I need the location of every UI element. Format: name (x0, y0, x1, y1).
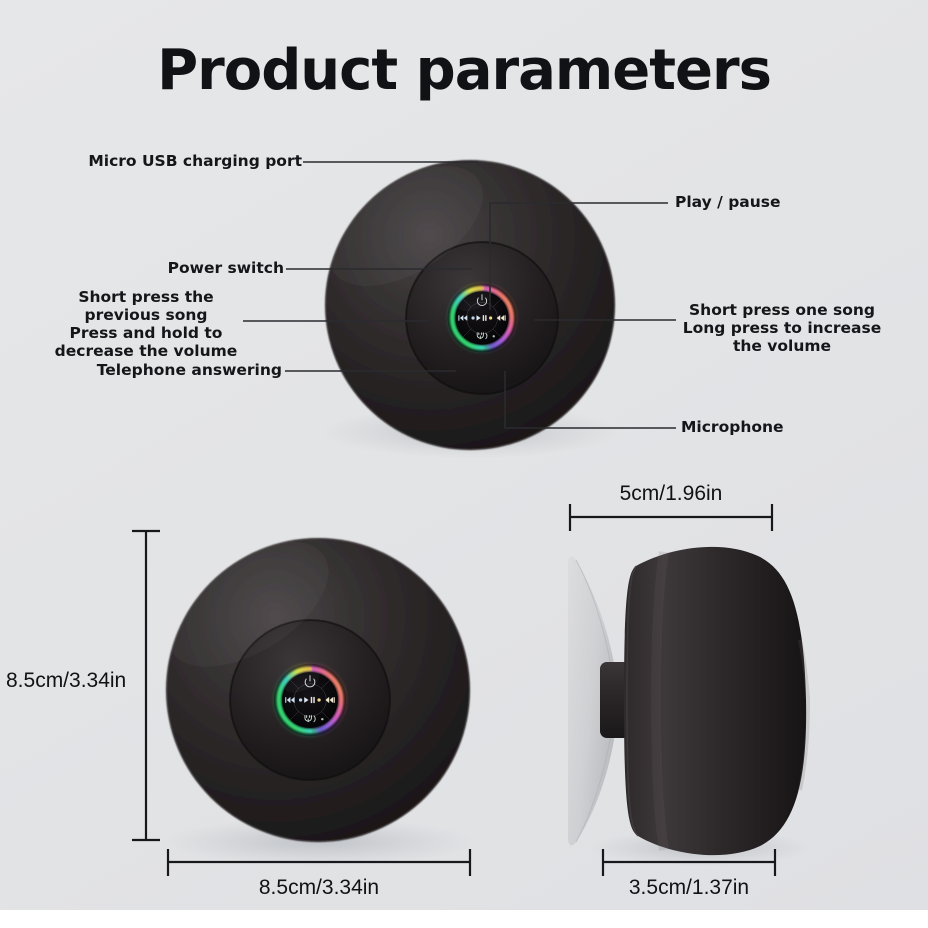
dimension-bottom-right-width: 3.5cm/1.37in (603, 876, 775, 900)
product-illustration (0, 0, 928, 928)
speaker-front-view-main (309, 141, 620, 458)
dimension-left-height: 8.5cm/3.34in (6, 669, 140, 693)
callout-previous-song-volume-down: Short press the previous song Press and … (48, 289, 244, 361)
callout-power-switch: Power switch (40, 260, 284, 278)
callout-microphone: Microphone (681, 419, 901, 437)
page-title: Product parameters (0, 38, 928, 103)
speaker-side-view-dimensions (568, 547, 810, 866)
dimension-bottom-left-width: 8.5cm/3.34in (168, 876, 470, 900)
callout-play-pause: Play / pause (675, 194, 895, 212)
callout-next-song-volume-up: Short press one song Long press to incre… (678, 302, 886, 356)
callout-telephone-answering: Telephone answering (40, 362, 282, 380)
callout-micro-usb-charging-port: Micro USB charging port (40, 153, 302, 171)
speaker-front-view-dimensions (146, 516, 473, 866)
bottom-white-strip (0, 910, 928, 928)
dimension-top-right-width: 5cm/1.96in (570, 482, 772, 506)
